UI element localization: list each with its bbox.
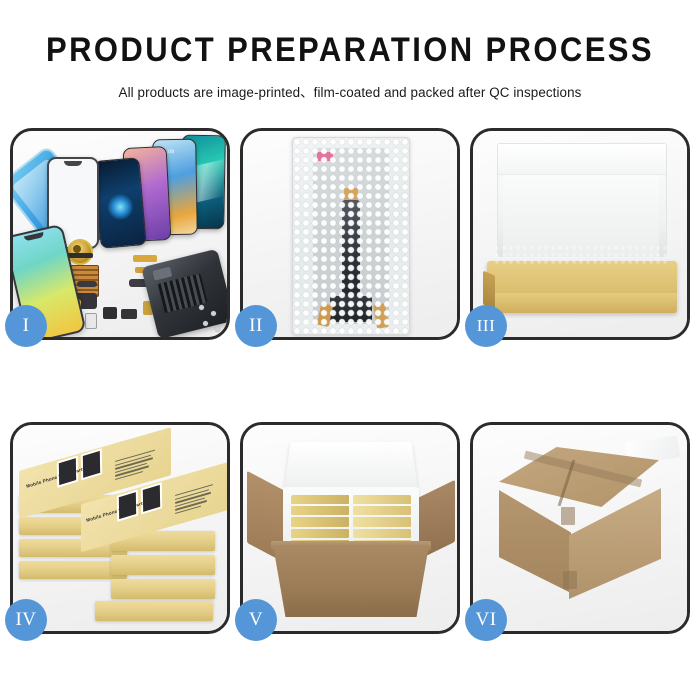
process-steps-grid: 16:08: [10, 128, 690, 634]
yellow-box-front-face: [487, 293, 677, 313]
stacked-box-slab: [111, 555, 215, 575]
infographic-page: PRODUCT PREPARATION PROCESS All products…: [0, 0, 700, 700]
phone-dark-icon: [93, 157, 146, 249]
screws-group: [199, 305, 225, 335]
step-panel-6: VI: [470, 422, 690, 634]
vibrator-icon: [103, 307, 117, 319]
phone-lineup: 16:08: [95, 135, 225, 247]
page-subtitle: All products are image-printed、film-coat…: [0, 81, 700, 101]
step-panel-1: 16:08: [10, 128, 230, 340]
step-panel-4: Mobile Phone Spare Parts Mobile Phone Sp…: [10, 422, 230, 634]
step-panel-2: II: [240, 128, 460, 340]
step-image-3: [473, 131, 687, 337]
step-image-6: [473, 425, 687, 631]
step-badge-4: IV: [5, 599, 47, 641]
step-image-2: [243, 131, 457, 337]
bubble-wrap-package-illustration: [292, 137, 410, 335]
step-badge-1: I: [5, 305, 47, 347]
flex-cable-1-icon: [133, 255, 157, 262]
header: PRODUCT PREPARATION PROCESS All products…: [0, 0, 700, 101]
yellow-box-side-flap: [483, 271, 495, 310]
carton-body-icon: [273, 545, 429, 617]
sim-tray-icon: [85, 313, 97, 329]
step-badge-2: II: [235, 305, 277, 347]
step-badge-6: VI: [465, 599, 507, 641]
connector-icon: [121, 309, 137, 319]
step-image-5: [243, 425, 457, 631]
phone-parts-collage-illustration: 16:08: [13, 131, 227, 337]
stacked-box-slab: [111, 579, 215, 599]
step-badge-5: V: [235, 599, 277, 641]
step-badge-3: III: [465, 305, 507, 347]
stacked-box-slab: [95, 601, 213, 621]
coil-component-icon: [67, 239, 93, 265]
bubble-texture: [293, 138, 409, 334]
step-image-4: Mobile Phone Spare Parts Mobile Phone Sp…: [13, 425, 227, 631]
step-image-1: 16:08: [13, 131, 227, 337]
speaker-bar-icon: [67, 253, 93, 258]
step-panel-3: III: [470, 128, 690, 340]
flex-cable-4-icon: [77, 281, 97, 287]
carton-tab-upper-icon: [561, 507, 575, 525]
carton-tab-lower-icon: [563, 571, 577, 589]
step-panel-5: V: [240, 422, 460, 634]
page-title: PRODUCT PREPARATION PROCESS: [0, 32, 700, 68]
stacked-boxes-illustration: Mobile Phone Spare Parts Mobile Phone Sp…: [19, 435, 221, 625]
